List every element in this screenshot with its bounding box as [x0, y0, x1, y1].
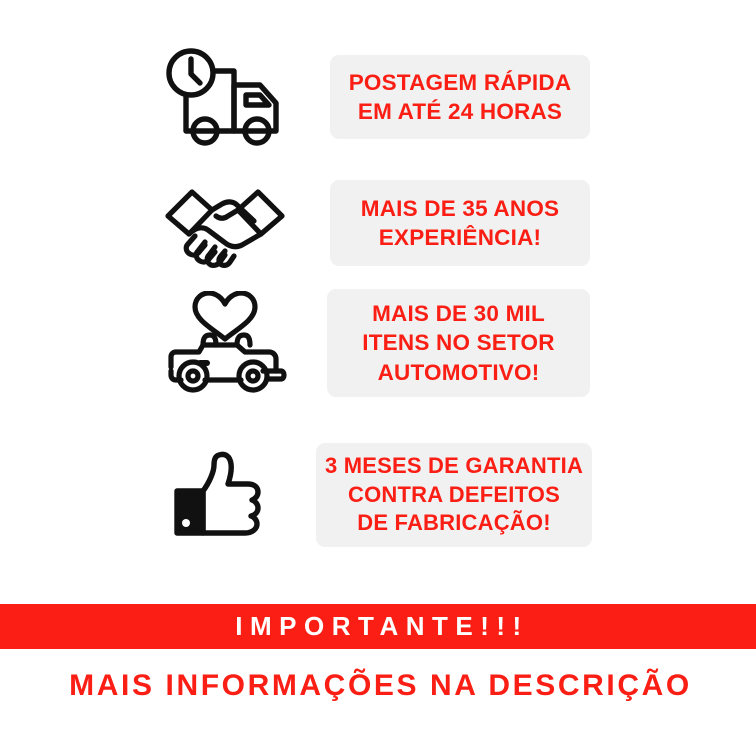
feature-list: POSTAGEM RÁPIDA EM ATÉ 24 HORAS: [0, 0, 756, 590]
feature-text-line: MAIS DE 35 ANOS: [361, 194, 559, 223]
thumbs-up-icon: [160, 440, 290, 550]
promo-banner: POSTAGEM RÁPIDA EM ATÉ 24 HORAS: [0, 0, 756, 756]
car-heart-icon: [160, 288, 290, 398]
feature-text-garantia: 3 MESES DE GARANTIA CONTRA DEFEITOS DE F…: [316, 443, 592, 547]
feature-text-line: DE FABRICAÇÃO!: [357, 509, 550, 538]
feature-text-experiencia: MAIS DE 35 ANOS EXPERIÊNCIA!: [330, 180, 590, 266]
feature-text-line: POSTAGEM RÁPIDA: [349, 68, 572, 97]
feature-text-line: EM ATÉ 24 HORAS: [358, 97, 562, 126]
feature-row-postagem: POSTAGEM RÁPIDA EM ATÉ 24 HORAS: [160, 42, 590, 152]
feature-text-line: 3 MESES DE GARANTIA: [325, 452, 583, 481]
feature-text-postagem: POSTAGEM RÁPIDA EM ATÉ 24 HORAS: [330, 55, 590, 139]
delivery-truck-clock-icon: [160, 42, 290, 152]
important-label: IMPORTANTE!!!: [227, 611, 528, 642]
important-banner: IMPORTANTE!!!: [0, 604, 756, 649]
feature-text-line: ITENS NO SETOR: [362, 328, 554, 357]
feature-row-itens: MAIS DE 30 MIL ITENS NO SETOR AUTOMOTIVO…: [160, 288, 590, 398]
feature-row-experiencia: MAIS DE 35 ANOS EXPERIÊNCIA!: [160, 168, 590, 278]
description-note: MAIS INFORMAÇÕES NA DESCRIÇÃO: [0, 658, 756, 714]
handshake-icon: [160, 168, 290, 278]
description-label: MAIS INFORMAÇÕES NA DESCRIÇÃO: [64, 669, 692, 703]
feature-text-line: AUTOMOTIVO!: [378, 358, 540, 387]
feature-row-garantia: 3 MESES DE GARANTIA CONTRA DEFEITOS DE F…: [160, 440, 592, 550]
feature-text-line: MAIS DE 30 MIL: [372, 299, 545, 328]
feature-text-line: CONTRA DEFEITOS: [348, 481, 560, 510]
feature-text-itens: MAIS DE 30 MIL ITENS NO SETOR AUTOMOTIVO…: [327, 289, 590, 397]
feature-text-line: EXPERIÊNCIA!: [379, 223, 541, 252]
